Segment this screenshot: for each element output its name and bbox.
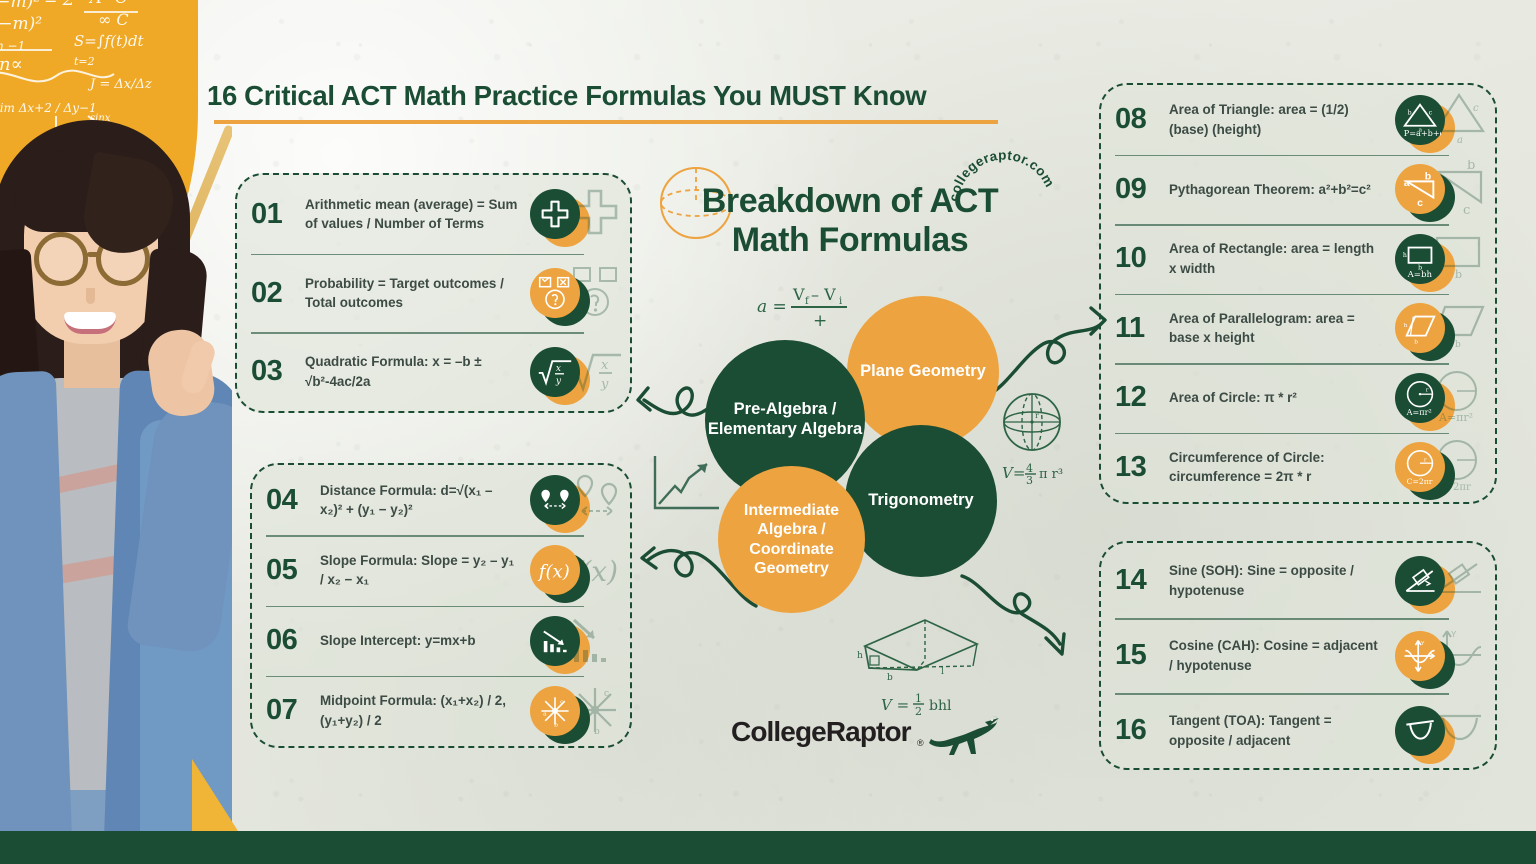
- svg-text:π r³: π r³: [1039, 467, 1063, 482]
- badge: f(x): [530, 545, 580, 595]
- svg-text:b: b: [1408, 109, 1412, 116]
- curly-arrow-right-icon: [985, 300, 1107, 400]
- footer-bar: [0, 831, 1536, 864]
- badge: h b: [1395, 303, 1445, 353]
- midpoint-star-icon: c a b: [538, 694, 572, 728]
- svg-text:c: c: [1473, 103, 1479, 114]
- formula-text: Area of Triangle: area = (1/2) (base) (h…: [1169, 100, 1389, 139]
- formula-icon-cluster: c a b c a P=a+b+c: [1389, 89, 1485, 151]
- badge: x y: [530, 347, 580, 397]
- formula-text: Area of Parallelogram: area = base x hei…: [1169, 309, 1389, 348]
- map-distance-icon: [538, 483, 572, 517]
- footer-accent-triangle: [192, 759, 238, 831]
- formula-text: Area of Circle: π * r²: [1169, 388, 1389, 407]
- bubble-label: Plane Geometry: [860, 362, 986, 382]
- svg-text:C=2πr: C=2πr: [1437, 482, 1471, 493]
- svg-text:a =: a =: [757, 297, 787, 317]
- hero-photo-area: (x−m)² = Σ A=C (x−m)² n −1 ∞ C S=∫f(t)dt…: [0, 0, 232, 840]
- square-root-icon: x y: [537, 354, 573, 390]
- formula-text: Quadratic Formula: x = –b ± √b²-4ac/2a: [305, 352, 524, 391]
- badge: [530, 475, 580, 525]
- svg-text:Y: Y: [1421, 641, 1425, 647]
- badge: [530, 616, 580, 666]
- svg-text:h: h: [857, 651, 863, 661]
- formula-row[interactable]: 03 Quadratic Formula: x = –b ± √b²-4ac/2…: [237, 332, 630, 411]
- svg-text:r: r: [1424, 458, 1427, 464]
- formula-text: Tangent (TOA): Tangent = opposite / adja…: [1169, 711, 1389, 750]
- page-title: 16 Critical ACT Math Practice Formulas Y…: [207, 80, 1017, 112]
- formula-text: Slope Intercept: y=mx+b: [320, 631, 524, 650]
- svg-text:f(x): f(x): [537, 562, 570, 583]
- formula-number: 06: [266, 624, 320, 657]
- right-triangle-icon: a b c: [1399, 168, 1441, 210]
- formula-icon-cluster: [524, 610, 620, 672]
- svg-text:b: b: [1467, 160, 1475, 173]
- formula-row[interactable]: 15 Cosine (CAH): Cosine = adjacent / hyp…: [1101, 618, 1495, 693]
- svg-text:V=: V=: [1002, 464, 1025, 482]
- svg-text:b: b: [1414, 340, 1418, 346]
- badge: c a b: [530, 686, 580, 736]
- formula-icon-cluster: b c a b c: [1389, 158, 1485, 220]
- formula-number: 13: [1115, 451, 1169, 484]
- formula-number: 05: [266, 554, 320, 587]
- parallelogram-icon: h b: [1399, 307, 1441, 349]
- formula-number: 15: [1115, 639, 1169, 672]
- svg-text:b: b: [554, 721, 558, 728]
- svg-text:r: r: [1035, 411, 1039, 420]
- formula-number: 11: [1115, 312, 1169, 345]
- formula-row[interactable]: 13 Circumference of Circle: circumferenc…: [1101, 433, 1495, 503]
- title-underline: [214, 120, 998, 124]
- formula-row[interactable]: 10 Area of Rectangle: area = length x wi…: [1101, 224, 1495, 294]
- formula-number: 09: [1115, 173, 1169, 206]
- formula-icon-cluster: b h b A=bh: [1389, 228, 1485, 290]
- svg-text:c: c: [604, 689, 609, 699]
- formula-icon-cluster: [1389, 700, 1485, 762]
- formula-icon-cluster: [524, 469, 620, 531]
- formula-panel-coordinate: 04 Distance Formula: d=√(x₁ – x₂)² + (y₁…: [250, 463, 632, 748]
- bubble-trigonometry[interactable]: Trigonometry: [845, 425, 997, 577]
- badge: a b c: [1395, 164, 1445, 214]
- formula-number: 07: [266, 694, 320, 727]
- bubble-label: Pre-Algebra / Elementary Algebra: [705, 400, 865, 440]
- svg-text:h: h: [1403, 252, 1407, 259]
- svg-text:y: y: [555, 376, 562, 386]
- badge: b c a P=a+b+c: [1395, 95, 1445, 145]
- svg-text:– V: – V: [811, 285, 836, 304]
- formula-number: 01: [251, 198, 305, 231]
- formula-text: Pythagorean Theorem: a²+b²=c²: [1169, 180, 1389, 199]
- formula-text: Area of Rectangle: area = length x width: [1169, 239, 1389, 278]
- svg-text:C=2πr: C=2πr: [1407, 477, 1433, 486]
- svg-text:V: V: [792, 285, 805, 304]
- mouth: [64, 312, 116, 334]
- sphere-volume-decoration: r V= 4 3 π r³: [992, 388, 1084, 486]
- formula-text: Circumference of Circle: circumference =…: [1169, 448, 1389, 487]
- svg-text:a: a: [543, 710, 547, 717]
- formula-panel-trigonometry: 14 Sine (SOH): Sine = opposite / hypoten…: [1099, 541, 1497, 770]
- badge: [530, 268, 580, 318]
- formula-icon-cluster: A=πr² r A=πr²: [1389, 367, 1485, 429]
- formula-text: Cosine (CAH): Cosine = adjacent / hypote…: [1169, 636, 1389, 675]
- infographic-canvas: (x−m)² = Σ A=C (x−m)² n −1 ∞ C S=∫f(t)dt…: [0, 0, 1536, 864]
- circle-area-icon: r A=πr²: [1399, 377, 1441, 419]
- badge: r C=2πr: [1395, 442, 1445, 492]
- triangle-perimeter-icon: b c a P=a+b+c: [1399, 99, 1441, 141]
- formula-row[interactable]: 05 Slope Formula: Slope = y₂ – y₁ / x₂ −…: [252, 535, 630, 605]
- svg-text:b: b: [887, 673, 893, 683]
- formula-row[interactable]: 02 Probability = Target outcomes / Total…: [237, 254, 630, 333]
- formula-text: Midpoint Formula: (x₁+x₂) / 2, (y₁+y₂) /…: [320, 691, 524, 730]
- formula-icon-cluster: x y x y: [524, 341, 620, 403]
- formula-icon-cluster: c a b c a b: [524, 680, 620, 742]
- svg-text:P=a+b+c: P=a+b+c: [1404, 128, 1441, 138]
- formula-row[interactable]: 01 Arithmetic mean (average) = Sum of va…: [237, 175, 630, 254]
- formula-icon-cluster: b h b: [1389, 297, 1485, 359]
- formula-number: 16: [1115, 714, 1169, 747]
- curly-arrow-right-icon: [960, 570, 1070, 660]
- badge: Y: [1395, 631, 1445, 681]
- formula-number: 12: [1115, 381, 1169, 414]
- formula-row[interactable]: 09 Pythagorean Theorem: a²+b²=c² b c: [1101, 155, 1495, 225]
- formula-number: 14: [1115, 564, 1169, 597]
- svg-text:b: b: [1455, 340, 1461, 350]
- formula-row[interactable]: 12 Area of Circle: π * r² A=πr²: [1101, 363, 1495, 433]
- function-fx-icon: f(x): [536, 551, 574, 589]
- formula-text: Distance Formula: d=√(x₁ – x₂)² + (y₁ − …: [320, 481, 524, 520]
- svg-text:x: x: [601, 358, 609, 373]
- svg-text:c: c: [1417, 197, 1423, 209]
- tangent-curve-icon: [1400, 711, 1440, 751]
- svg-text:c: c: [1463, 203, 1470, 216]
- svg-text:h: h: [1404, 323, 1408, 329]
- cosine-wave-axis-icon: Y: [1400, 636, 1440, 676]
- svg-text:Y: Y: [1451, 630, 1457, 639]
- svg-text:+: +: [813, 311, 827, 331]
- trademark-symbol: ®: [917, 738, 924, 748]
- formula-icon-cluster: [524, 262, 620, 324]
- formula-number: 03: [251, 355, 305, 388]
- svg-text:l: l: [941, 667, 944, 677]
- formula-text: Probability = Target outcomes / Total ou…: [305, 274, 524, 313]
- formula-icon-cluster: Y Y: [1389, 625, 1485, 687]
- acceleration-formula-decoration: a = V f – V i +: [757, 272, 877, 334]
- svg-text:y: y: [600, 377, 609, 392]
- svg-text:A=bh: A=bh: [1407, 270, 1433, 280]
- svg-text:collegeraptor.com: collegeraptor.com: [948, 150, 1057, 203]
- eyeglasses-bridge: [87, 252, 99, 257]
- formula-icon-cluster: [524, 183, 620, 245]
- student-photo: [0, 0, 232, 840]
- formula-number: 10: [1115, 242, 1169, 275]
- formula-row[interactable]: 14 Sine (SOH): Sine = opposite / hypoten…: [1101, 543, 1495, 618]
- svg-text:A=πr²: A=πr²: [1438, 411, 1473, 424]
- growth-graph-decoration-icon: [645, 450, 725, 520]
- svg-text:1: 1: [915, 692, 922, 705]
- rectangle-area-icon: h b A=bh: [1399, 238, 1441, 280]
- badge: [1395, 556, 1445, 606]
- nose: [86, 288, 95, 304]
- formula-number: 02: [251, 277, 305, 310]
- svg-text:3: 3: [1026, 474, 1033, 486]
- formula-icon-cluster: f(x) f(x): [524, 539, 620, 601]
- question-survey-icon: [537, 275, 573, 311]
- formula-row[interactable]: 08 Area of Triangle: area = (1/2) (base)…: [1101, 85, 1495, 155]
- formula-row[interactable]: 07 Midpoint Formula: (x₁+x₂) / 2, (y₁+y₂…: [252, 676, 630, 746]
- formula-text: Sine (SOH): Sine = opposite / hypotenuse: [1169, 561, 1389, 600]
- formula-icon-cluster: [1389, 550, 1485, 612]
- formula-number: 08: [1115, 103, 1169, 136]
- plus-icon: [540, 199, 570, 229]
- svg-text:a: a: [1404, 177, 1410, 189]
- formula-text: Arithmetic mean (average) = Sum of value…: [305, 195, 524, 234]
- bubble-label: Trigonometry: [868, 491, 973, 511]
- formula-panel-arithmetic: 01 Arithmetic mean (average) = Sum of va…: [235, 173, 632, 413]
- badge: [1395, 706, 1445, 756]
- svg-text:a: a: [1457, 135, 1463, 146]
- formula-icon-cluster: C=2πr r C=2πr: [1389, 436, 1485, 498]
- formula-row[interactable]: 04 Distance Formula: d=√(x₁ – x₂)² + (y₁…: [252, 465, 630, 535]
- raptor-icon: [927, 712, 1001, 756]
- circle-circumference-icon: r C=2πr: [1399, 446, 1441, 488]
- formula-text: Slope Formula: Slope = y₂ – y₁ / x₂ − x₁: [320, 551, 524, 590]
- svg-text:r: r: [1426, 387, 1429, 393]
- svg-text:b: b: [1455, 268, 1462, 281]
- svg-text:i: i: [839, 296, 842, 307]
- formula-row[interactable]: 06 Slope Intercept: y=mx+b: [252, 606, 630, 676]
- brand-logo[interactable]: CollegeRaptor ®: [731, 712, 996, 758]
- svg-text:b: b: [594, 727, 600, 737]
- formula-number: 04: [266, 484, 320, 517]
- brand-name: CollegeRaptor: [731, 716, 911, 748]
- formula-panel-geometry: 08 Area of Triangle: area = (1/2) (base)…: [1099, 83, 1497, 504]
- bubble-label: Intermediate Algebra / Coordinate Geomet…: [718, 501, 865, 578]
- badge: r A=πr²: [1395, 373, 1445, 423]
- badge: [530, 189, 580, 239]
- svg-text:f: f: [805, 296, 810, 307]
- svg-text:c: c: [1429, 109, 1433, 116]
- svg-text:b: b: [1425, 171, 1431, 183]
- svg-text:A=πr²: A=πr²: [1406, 407, 1432, 417]
- formula-row[interactable]: 11 Area of Parallelogram: area = base x …: [1101, 294, 1495, 364]
- declining-bar-chart-icon: [539, 625, 571, 657]
- incline-sine-icon: [1400, 561, 1440, 601]
- eyeglasses-lens: [34, 232, 88, 286]
- bubble-intermediate-algebra[interactable]: Intermediate Algebra / Coordinate Geomet…: [718, 466, 865, 613]
- svg-text:x: x: [556, 364, 561, 374]
- badge: h b A=bh: [1395, 234, 1445, 284]
- formula-row[interactable]: 16 Tangent (TOA): Tangent = opposite / a…: [1101, 693, 1495, 768]
- collegeraptor-watermark: collegeraptor.com: [948, 150, 1064, 266]
